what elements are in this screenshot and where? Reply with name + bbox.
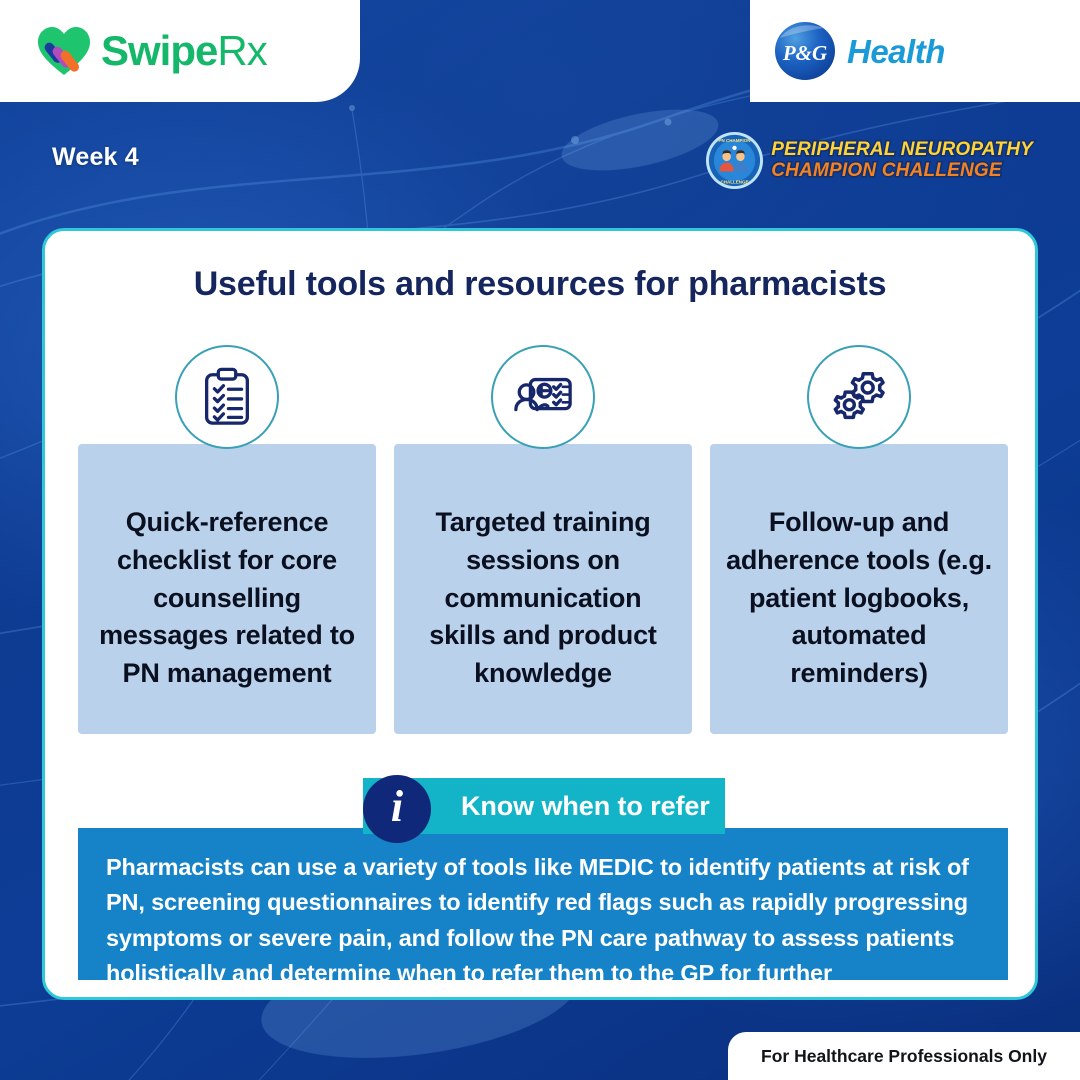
main-content-card: Useful tools and resources for pharmacis… (42, 228, 1038, 1000)
page-title: Useful tools and resources for pharmacis… (45, 265, 1035, 304)
challenge-badge-line2: CHAMPION CHALLENGE (771, 161, 1033, 181)
footer-disclaimer: For Healthcare Professionals Only (728, 1032, 1080, 1080)
challenge-badge: PN CHAMPION CHALLENGE PERIPHERAL NEUROPA… (705, 131, 1033, 190)
gears-settings-icon (807, 345, 911, 449)
swiperx-logo-panel: SwipeRx (0, 0, 360, 102)
refer-banner-row: Know when to refer i (45, 778, 1035, 840)
week-label: Week 4 (52, 143, 139, 172)
tool-column-body: Targeted training sessions on communicat… (394, 444, 692, 734)
pg-health-logo: P&G Health (774, 20, 945, 82)
swiperx-wordmark-swipe: Swipe (101, 27, 217, 74)
pg-oval-logo-icon: P&G (774, 20, 836, 82)
pg-health-wordmark: Health (847, 35, 945, 68)
svg-text:P&G: P&G (782, 41, 827, 65)
tool-column-checklist: Quick-reference checklist for core couns… (78, 444, 376, 734)
challenge-badge-line1: PERIPHERAL NEUROPATHY (771, 140, 1033, 160)
clipboard-checklist-icon (175, 345, 279, 449)
tool-column-followup: Follow-up and adherence tools (e.g. pati… (710, 444, 1008, 734)
challenge-badge-text: PERIPHERAL NEUROPATHY CHAMPION CHALLENGE (771, 140, 1033, 181)
pg-health-logo-panel: P&G Health (750, 0, 1080, 102)
swiperx-wordmark: SwipeRx (101, 30, 267, 72)
svg-text:CHALLENGE: CHALLENGE (721, 180, 749, 185)
pn-champion-challenge-seal-icon: PN CHAMPION CHALLENGE (705, 131, 764, 190)
footer-text: For Healthcare Professionals Only (761, 1046, 1047, 1067)
tools-columns: Quick-reference checklist for core couns… (78, 444, 1008, 734)
tool-column-body: Follow-up and adherence tools (e.g. pati… (710, 444, 1008, 734)
swiperx-logo: SwipeRx (36, 25, 267, 77)
training-presentation-icon (491, 345, 595, 449)
tool-column-text: Targeted training sessions on communicat… (410, 504, 676, 693)
swiperx-heart-logo-icon (36, 25, 92, 77)
tool-column-text: Follow-up and adherence tools (e.g. pati… (726, 504, 992, 693)
info-circle-icon: i (363, 775, 431, 843)
refer-body-panel: Pharmacists can use a variety of tools l… (78, 828, 1008, 980)
info-glyph: i (391, 785, 403, 833)
tool-column-training: Targeted training sessions on communicat… (394, 444, 692, 734)
refer-paragraph: Pharmacists can use a variety of tools l… (106, 850, 980, 1000)
header-band: SwipeRx P&G Health (0, 0, 1080, 102)
swiperx-wordmark-rx: Rx (217, 27, 266, 74)
refer-banner-label: Know when to refer (461, 791, 710, 822)
tool-column-body: Quick-reference checklist for core couns… (78, 444, 376, 734)
tool-column-text: Quick-reference checklist for core couns… (94, 504, 360, 693)
svg-text:PN CHAMPION: PN CHAMPION (719, 138, 751, 143)
